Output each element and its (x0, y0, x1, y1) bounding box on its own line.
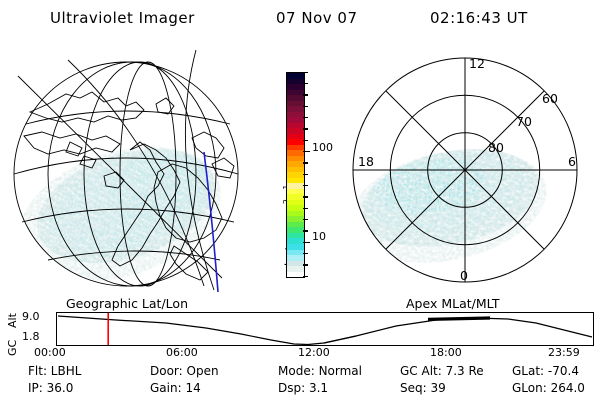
status-field: Door: Open (150, 364, 219, 378)
status-field: Mode: Normal (278, 364, 362, 378)
strip-ylabel-top: GC (6, 340, 19, 356)
strip-altitude-curve (58, 316, 592, 345)
status-field-value: Normal (315, 364, 362, 378)
status-field-key: GLat: (512, 364, 544, 378)
strip-xtick-4: 23:59 (548, 346, 580, 359)
colorbar-tick-mark (303, 230, 308, 231)
colorbar-band-36 (287, 272, 304, 278)
colorbar-tick-mark (303, 117, 308, 118)
mlat-label-60: 60 (542, 91, 558, 106)
colorbar-tick-mark (303, 83, 308, 84)
status-field-key: Dsp: (278, 381, 305, 395)
colorbar-tick-mark (303, 253, 308, 254)
geo-aurora-emission (8, 123, 238, 294)
status-field-value: Open (183, 364, 219, 378)
strip-ytick-top: 9.0 (22, 310, 40, 323)
mlat-label-70: 70 (516, 114, 532, 129)
colorbar-tick-mark (303, 94, 308, 95)
status-field-key: Seq: (400, 381, 427, 395)
status-field-value: 3.1 (305, 381, 328, 395)
observation-time: 02:16:43 UT (430, 9, 528, 27)
status-field-key: Gain: (150, 381, 182, 395)
status-field: Dsp: 3.1 (278, 381, 328, 395)
mlt-label-6: 6 (568, 154, 576, 169)
colorbar-tick-mark (303, 196, 308, 197)
observation-date: 07 Nov 07 (276, 9, 358, 27)
colorbar-tick-mark (303, 185, 308, 186)
status-field: Gain: 14 (150, 381, 201, 395)
geographic-panel (8, 46, 266, 294)
status-field-key: IP: (28, 381, 43, 395)
status-field-value: -70.4 (544, 364, 579, 378)
status-field-key: Mode: (278, 364, 315, 378)
status-field-key: GLon: (512, 381, 547, 395)
colorbar-tick-label-0: 100 (312, 141, 333, 154)
status-field-key: Flt: (28, 364, 47, 378)
status-field-value: 14 (182, 381, 201, 395)
colorbar-tick-mark (303, 208, 308, 209)
colorbar-tick-label-1: 10 (312, 230, 326, 243)
instrument-title: Ultraviolet Imager (50, 9, 195, 27)
colorbar-tick-mark (303, 151, 310, 152)
status-field-value: 7.3 Re (442, 364, 484, 378)
strip-ylabel-bottom: Alt (6, 313, 19, 328)
colorbar-tick-mark (303, 264, 308, 265)
mlt-label-18: 18 (358, 154, 374, 169)
strip-altitude-bold-a (428, 318, 490, 319)
strip-xtick-3: 18:00 (430, 346, 462, 359)
colorbar-tick-mark (303, 242, 310, 243)
colorbar-tick-mark (303, 140, 308, 141)
status-field: IP: 36.0 (28, 381, 73, 395)
right-panel-title: Apex MLat/MLT (406, 296, 500, 311)
status-field: GLat: -70.4 (512, 364, 579, 378)
colorbar-tick-mark (303, 128, 308, 129)
status-field: GC Alt: 7.3 Re (400, 364, 484, 378)
colorbar-tick-mark (303, 162, 308, 163)
mlat-label-80: 80 (488, 140, 504, 155)
status-field-key: GC Alt: (400, 364, 442, 378)
apex-polar-panel: 12 18 6 0 80 70 60 (336, 46, 594, 294)
uvi-screenshot: Ultraviolet Imager 07 Nov 07 02:16:43 UT (0, 0, 600, 400)
mlt-label-0: 0 (460, 268, 468, 283)
strip-altitude-bold-b (324, 336, 356, 343)
colorbar-tick-mark (303, 72, 308, 73)
status-field: GLon: 264.0 (512, 381, 585, 395)
status-field-value: 36.0 (43, 381, 74, 395)
status-field-value: 39 (427, 381, 446, 395)
status-field-key: Door: (150, 364, 183, 378)
strip-xtick-2: 12:00 (298, 346, 330, 359)
strip-plot-area (56, 312, 594, 346)
left-panel-title: Geographic Lat/Lon (66, 296, 188, 311)
strip-ytick-bottom: 1.8 (22, 330, 40, 343)
strip-xtick-1: 06:00 (166, 346, 198, 359)
status-field-value: LBHL (47, 364, 81, 378)
mlt-label-12: 12 (469, 56, 485, 71)
strip-xtick-0: 00:00 (34, 346, 66, 359)
colorbar-tick-mark (303, 106, 308, 107)
status-field-value: 264.0 (547, 381, 585, 395)
colorbar-tick-mark (303, 219, 308, 220)
status-field: Flt: LBHL (28, 364, 81, 378)
status-field: Seq: 39 (400, 381, 446, 395)
colorbar-tick-mark (303, 276, 308, 277)
colorbar-tick-mark (303, 174, 308, 175)
